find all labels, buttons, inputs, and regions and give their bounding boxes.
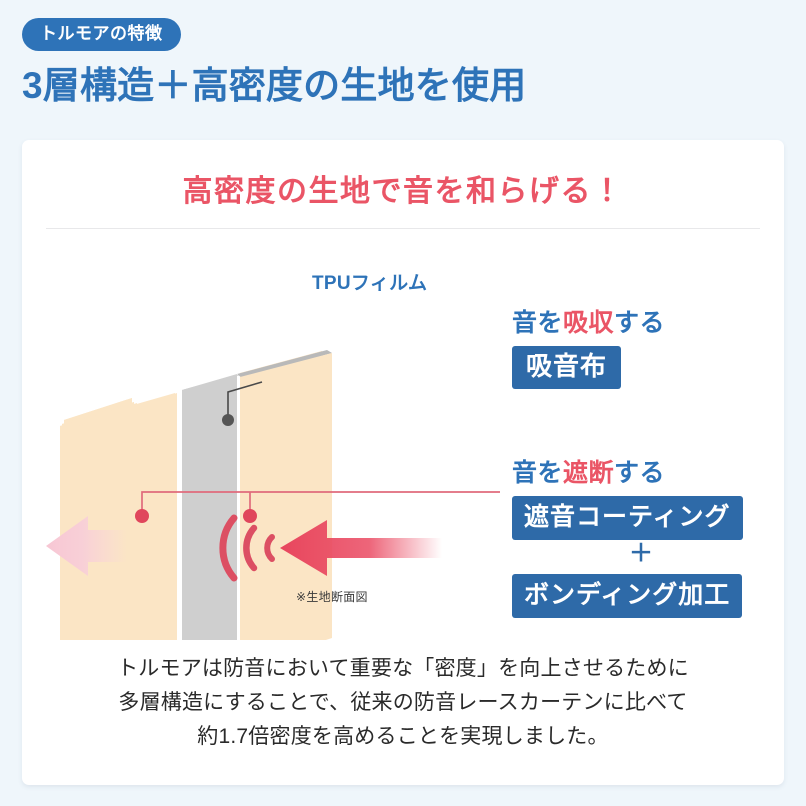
section-divider [46,228,760,229]
layer-stack [77,350,332,640]
absorb-connector-dot-right [243,509,257,523]
sheet-back-fabric [77,393,177,640]
eyebrow-badge: トルモアの特徴 [22,18,181,51]
page-header: トルモアの特徴 3層構造＋高密度の生地を使用 [22,18,784,107]
feature-card: 高密度の生地で音を和らげる！ [22,140,784,785]
body-copy-line-3: 約1.7倍密度を高めることを実現しました。 [22,720,784,754]
callout-block-plus: ＋ [512,542,770,566]
cross-section-note: ※生地断面図 [296,588,368,605]
body-copy-line-1: トルモアは防音において重要な「密度」を向上させるために [22,652,784,686]
absorb-connector-dot-left [135,509,149,523]
body-copy: トルモアは防音において重要な「密度」を向上させるために 多層構造にすることで、従… [22,652,784,754]
callout-absorb-heading-suffix: する [614,309,665,337]
callout-block-heading-prefix: 音を [512,459,563,487]
tpu-film-label: TPUフィルム [312,268,427,295]
callout-absorb: 音を吸収する 吸音布 [512,308,665,389]
callout-block-badge-coating: 遮音コーティング [512,496,743,540]
card-subtitle: 高密度の生地で音を和らげる！ [22,166,784,210]
callout-block-heading-suffix: する [614,459,665,487]
tpu-leader-dot [222,414,234,426]
page-title: 3層構造＋高密度の生地を使用 [22,65,784,108]
body-copy-line-2: 多層構造にすることで、従来の防音レースカーテンに比べて [22,686,784,720]
callout-block-heading-accent: 遮断 [563,459,614,487]
callout-block-heading: 音を遮断する [512,458,770,488]
callout-absorb-badge: 吸音布 [512,346,621,389]
callout-absorb-heading: 音を吸収する [512,308,665,338]
callout-block: 音を遮断する 遮音コーティング ＋ ボンディング加工 [512,458,770,618]
callout-absorb-heading-prefix: 音を [512,309,563,337]
callout-absorb-heading-accent: 吸収 [563,309,614,337]
callout-block-badge-bonding: ボンディング加工 [512,574,742,618]
